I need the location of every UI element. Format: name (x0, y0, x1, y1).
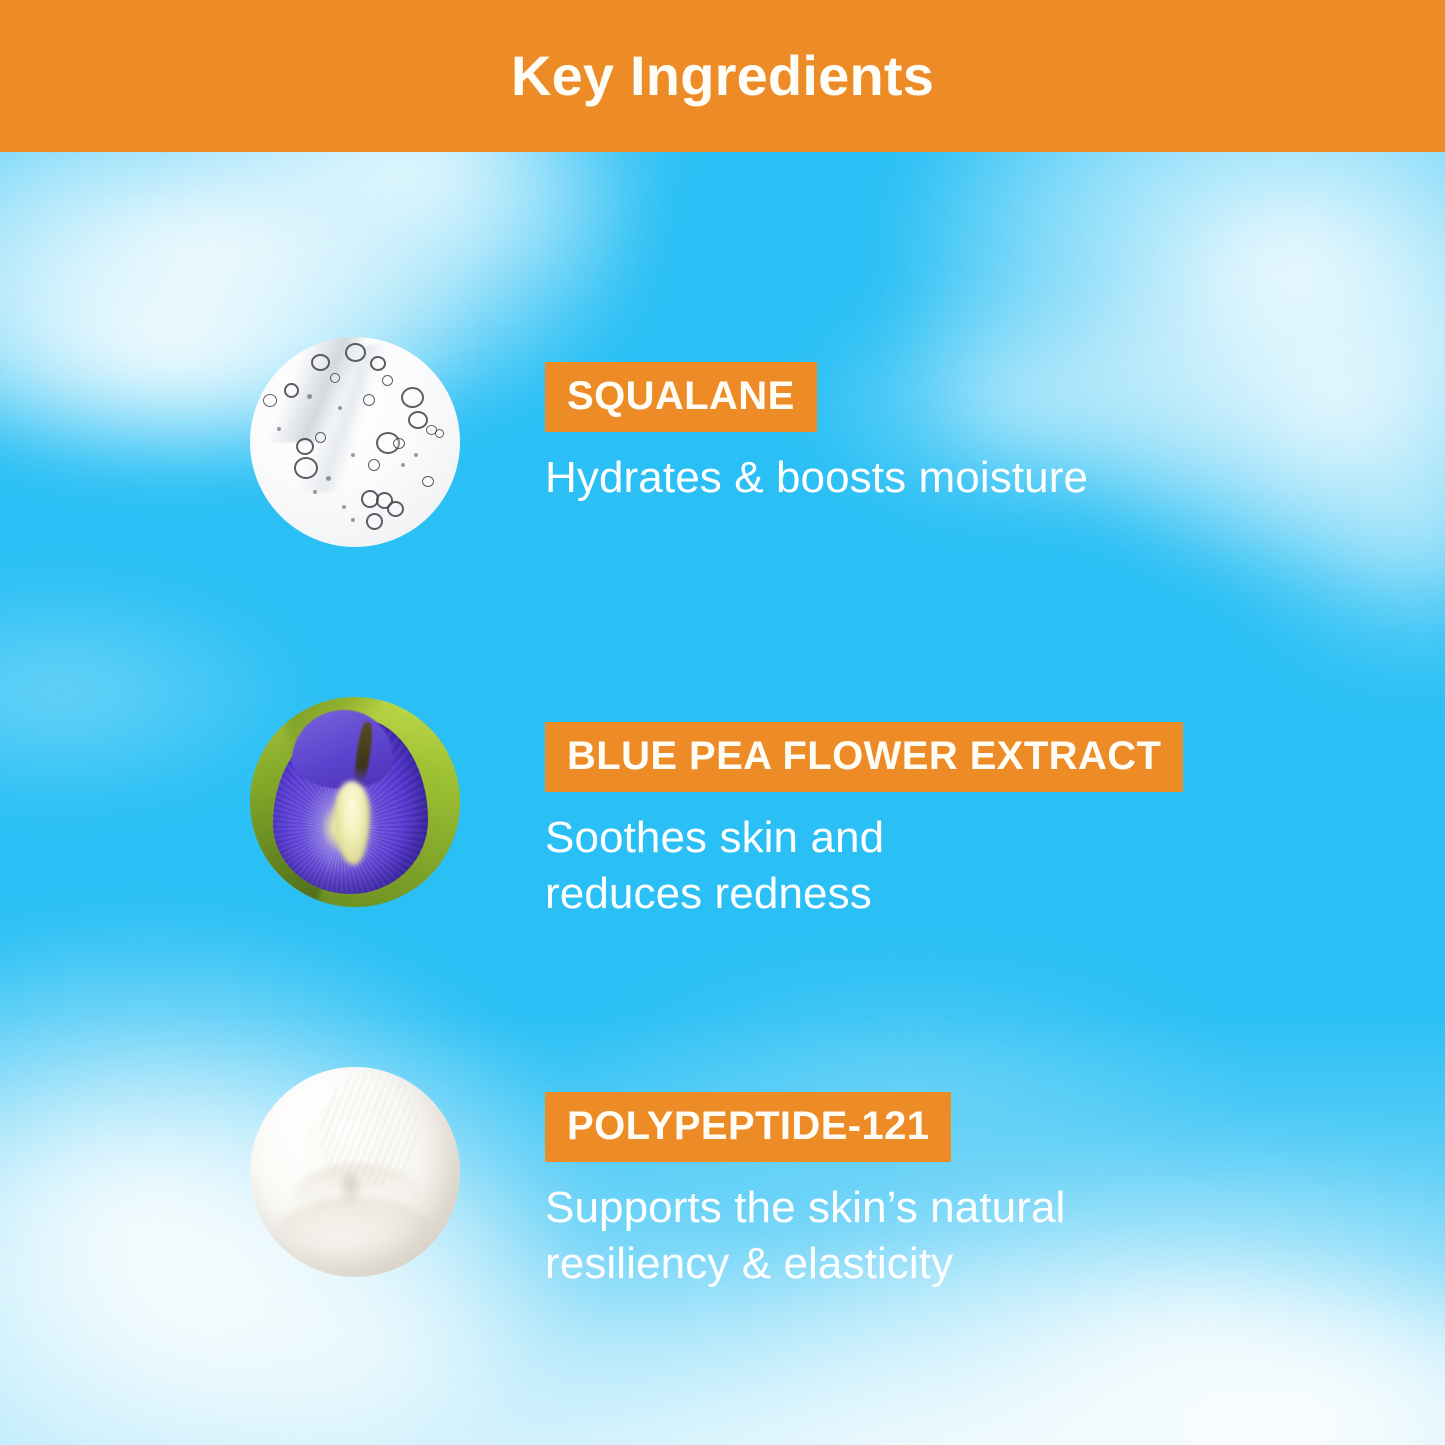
ingredient-name-badge: BLUE PEA FLOWER EXTRACT (545, 722, 1183, 792)
description-line-2: reduces redness (545, 866, 1305, 922)
ingredients-list: SQUALANE Hydrates & boosts moisture BLUE… (0, 152, 1445, 1445)
ingredient-description: Supports the skin’s natural resiliency &… (545, 1180, 1305, 1293)
ingredient-item-blue-pea-flower-extract: BLUE PEA FLOWER EXTRACT Soothes skin and… (0, 697, 1445, 923)
ingredient-description: Hydrates & boosts moisture (545, 450, 1305, 506)
ingredient-item-polypeptide-121: POLYPEPTIDE-121 Supports the skin’s natu… (0, 1067, 1445, 1293)
page-title: Key Ingredients (511, 48, 934, 104)
ingredient-description: Soothes skin and reduces redness (545, 810, 1305, 923)
ingredient-name-badge: SQUALANE (545, 362, 817, 432)
description-line-1: Supports the skin’s natural (545, 1180, 1305, 1236)
ingredient-text-block: BLUE PEA FLOWER EXTRACT Soothes skin and… (545, 697, 1445, 923)
ingredient-text-block: POLYPEPTIDE-121 Supports the skin’s natu… (545, 1067, 1445, 1293)
cream-dollop-swatch (250, 1067, 460, 1277)
blue-pea-flower-swatch (250, 697, 460, 907)
description-line-2: resiliency & elasticity (545, 1236, 1305, 1292)
ingredient-item-squalane: SQUALANE Hydrates & boosts moisture (0, 337, 1445, 547)
ingredient-name-badge: POLYPEPTIDE-121 (545, 1092, 951, 1162)
description-line-1: Soothes skin and (545, 810, 1305, 866)
squalane-gel-swatch (250, 337, 460, 547)
header-bar: Key Ingredients (0, 0, 1445, 152)
key-ingredients-infographic: Key Ingredients (0, 0, 1445, 1445)
ingredient-text-block: SQUALANE Hydrates & boosts moisture (545, 337, 1445, 506)
